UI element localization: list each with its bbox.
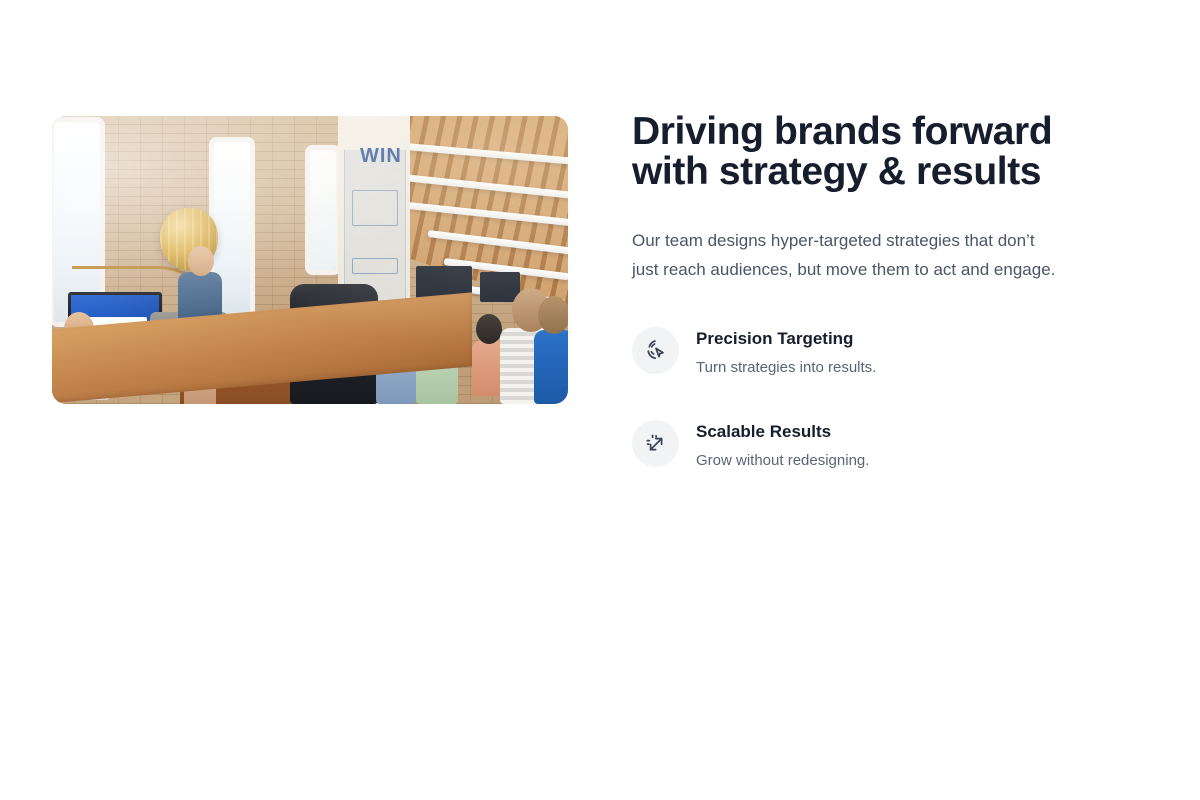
feature-title: Scalable Results [696,421,869,443]
mural-doodle-2 [352,258,398,274]
mural-doodle-1 [352,190,398,226]
attendee-4-head [476,314,502,344]
hero-subcopy: Our team designs hyper-targeted strategi… [632,192,1148,284]
feature-text-block: Precision Targeting Turn strategies into… [696,326,876,378]
attendee-6-head [538,296,568,334]
hero-copy-column: Driving brands forward with strategy & r… [632,112,1152,471]
hero-section: WIN Proof ALL HANDS [0,0,1200,800]
feature-list: Precision Targeting Turn strategies into… [632,284,1152,471]
office-all-hands-meeting-photo: WIN Proof ALL HANDS [52,116,568,404]
feature-item-scalable-results: Scalable Results Grow without redesignin… [632,419,1152,471]
arrow-expand-up-right-icon [632,420,679,467]
presenter-head [188,246,214,276]
feature-description: Turn strategies into results. [696,350,876,378]
hero-image: WIN Proof ALL HANDS [52,116,568,404]
feature-item-precision-targeting: Precision Targeting Turn strategies into… [632,326,1152,378]
feature-description: Grow without redesigning. [696,443,869,471]
window-right [310,150,336,270]
wall-win-text: WIN [360,146,402,166]
feature-title: Precision Targeting [696,328,876,350]
attendee-6-body [534,330,568,404]
hero-media-column: WIN Proof ALL HANDS [52,116,568,404]
page-title: Driving brands forward with strategy & r… [632,112,1152,192]
cursor-click-icon [632,327,679,374]
feature-text-block: Scalable Results Grow without redesignin… [696,419,869,471]
